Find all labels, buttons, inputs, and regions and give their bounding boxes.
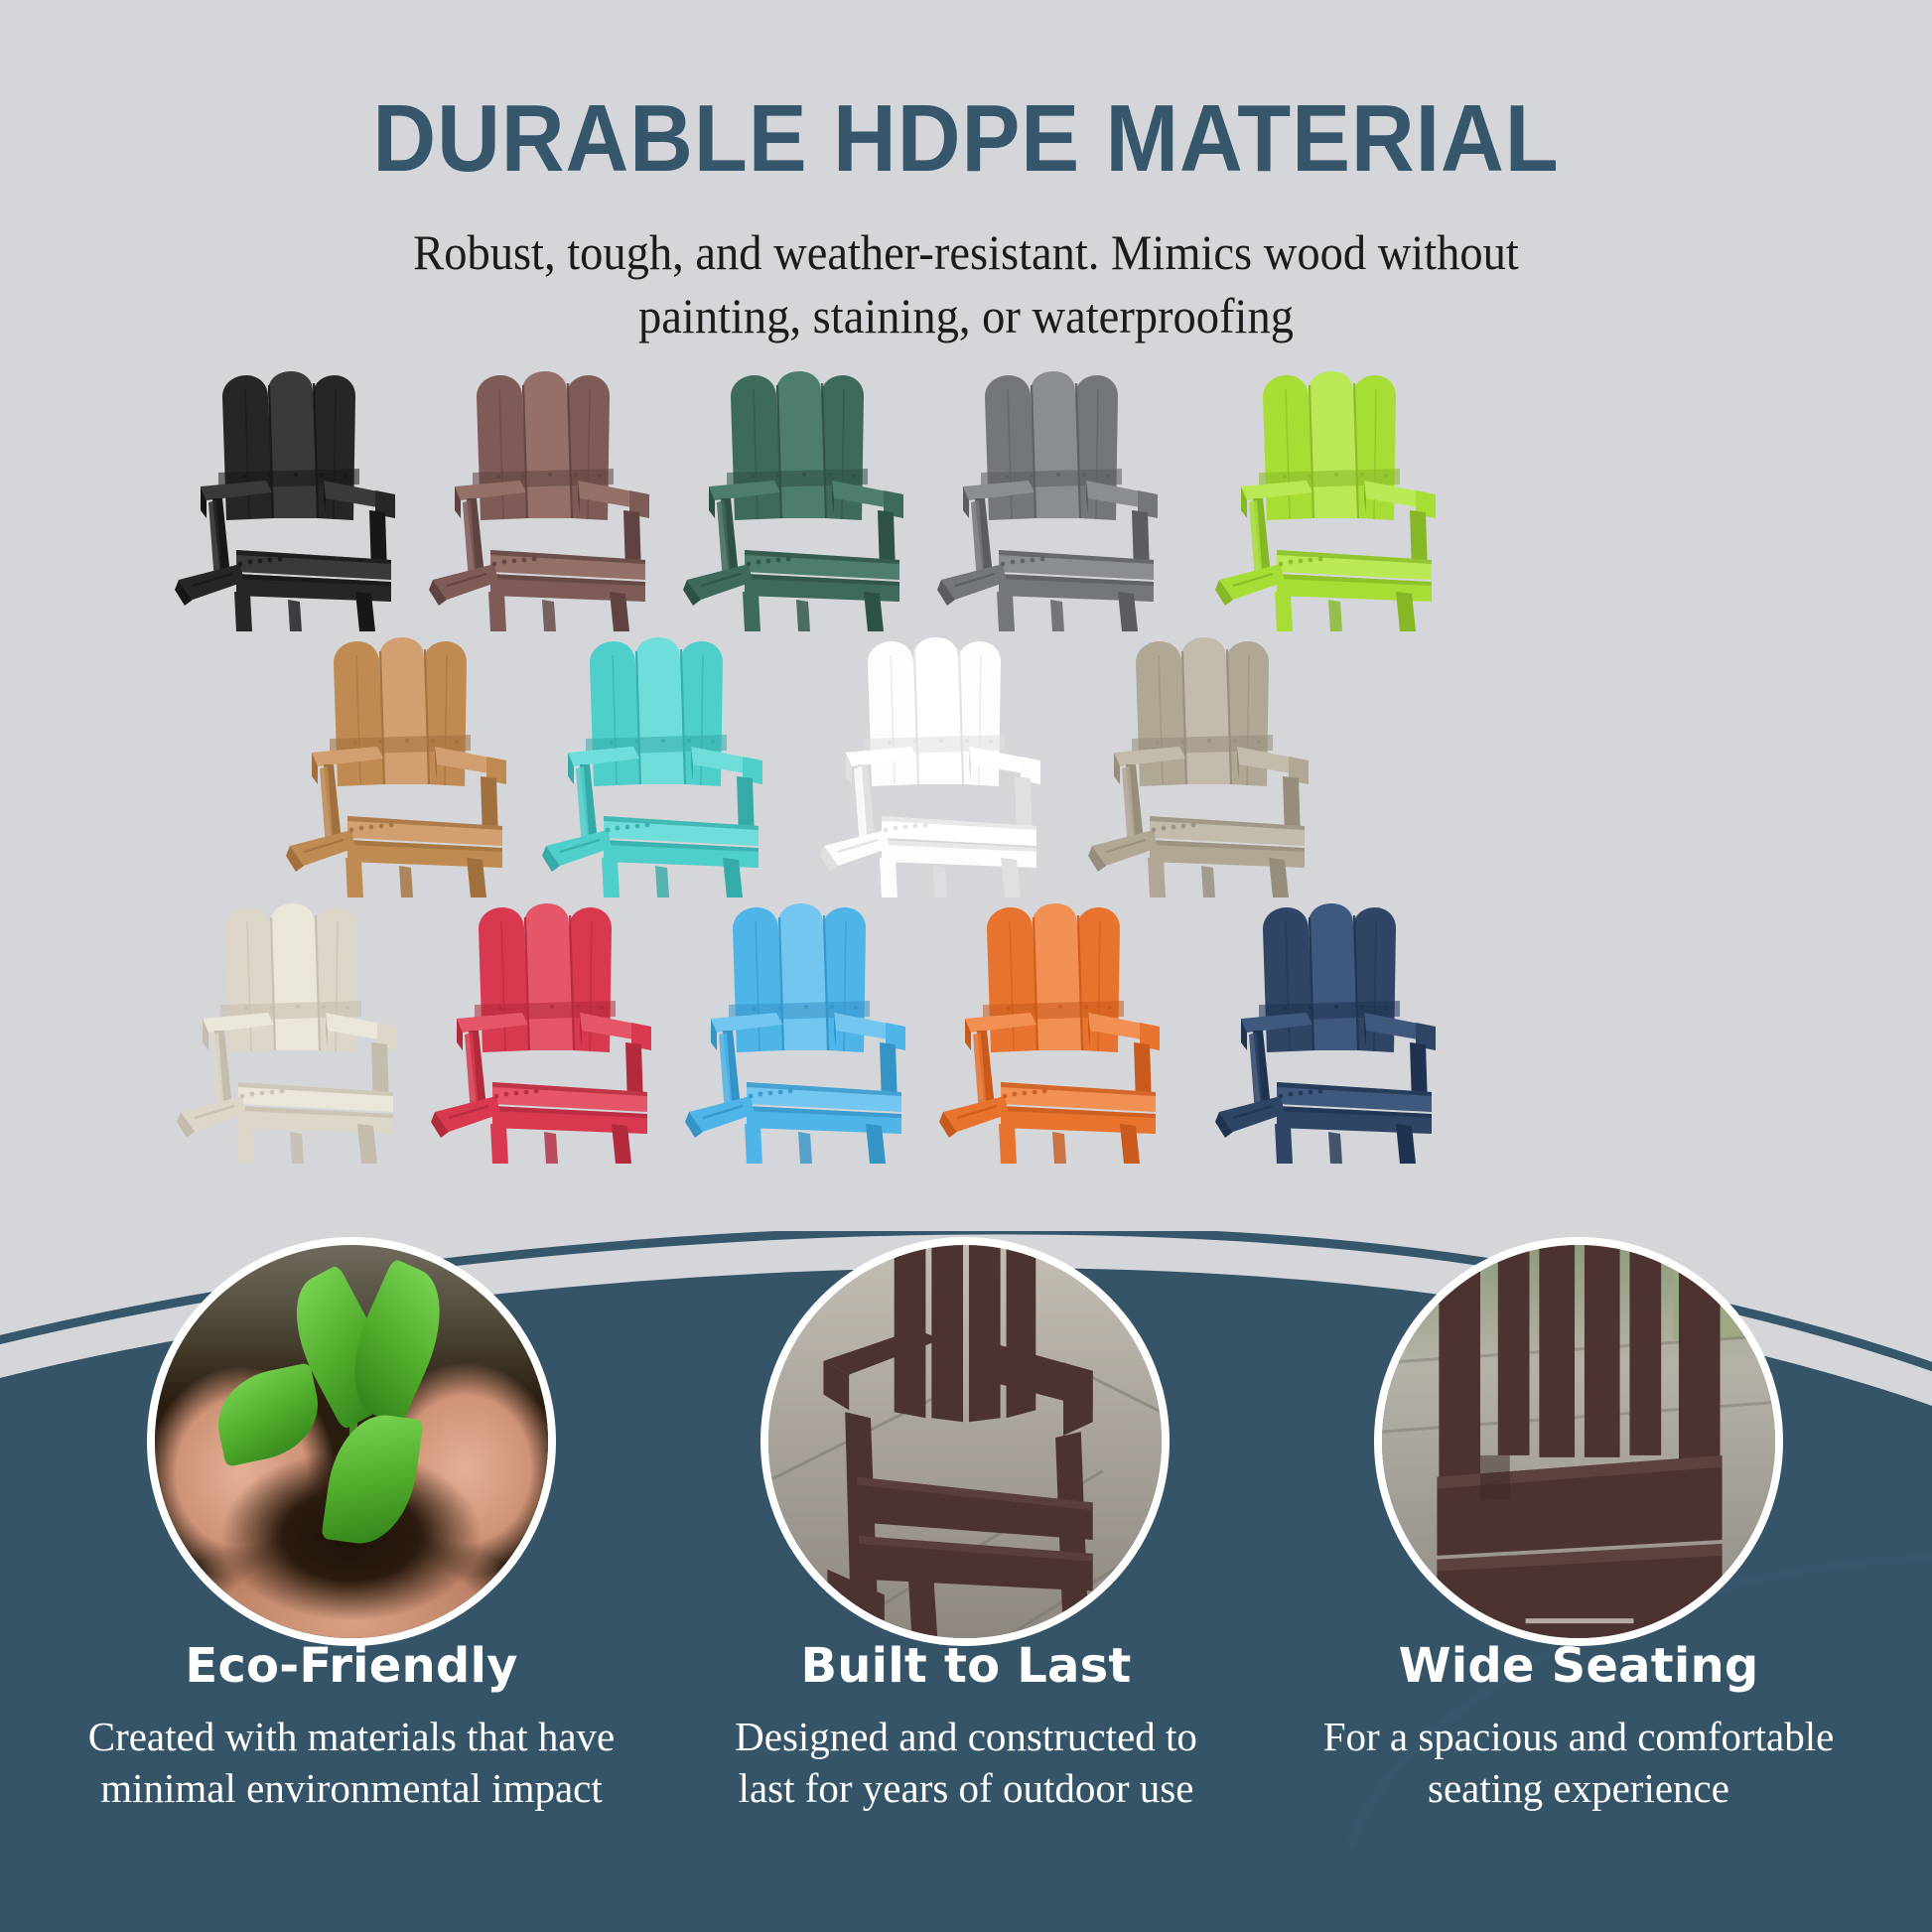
chair-swatch-navy-blue[interactable] (1189, 901, 1455, 1168)
chair-swatch-brown[interactable] (403, 369, 669, 635)
chair-illustration-black (149, 369, 415, 635)
chair-swatch-weathered-taupe[interactable] (1062, 635, 1328, 901)
feature-photo-eco-friendly (147, 1237, 556, 1646)
chair-illustration-lime-green (1189, 369, 1455, 635)
chair-color-grid (0, 369, 1932, 1168)
chair-swatch-white[interactable] (794, 635, 1060, 901)
feature-photos (0, 1237, 1932, 1654)
chair-closeup-svg (1382, 1245, 1775, 1638)
leaf-icon (208, 1362, 328, 1467)
feature-description: Created with materials that have minimal… (44, 1693, 659, 1815)
feature-desc-line-1: Designed and constructed to (658, 1711, 1274, 1762)
header: DURABLE HDPE MATERIAL Robust, tough, and… (0, 0, 1932, 347)
chair-row-2 (0, 635, 1932, 901)
chair-swatch-turquoise[interactable] (516, 635, 782, 901)
chair-seat-closeup-image (1382, 1245, 1775, 1638)
patio-chair-image (768, 1245, 1162, 1638)
chair-illustration-white (794, 635, 1060, 901)
infographic-root: DURABLE HDPE MATERIAL Robust, tough, and… (0, 0, 1932, 1932)
chair-illustration-light-blue (659, 901, 925, 1168)
chair-illustration-weathered-taupe (1062, 635, 1328, 901)
leaf-icon (321, 1409, 424, 1551)
chair-swatch-ivory[interactable] (151, 901, 417, 1168)
chair-row-1 (0, 369, 1932, 635)
chair-illustration-turquoise (516, 635, 782, 901)
feature-photo-wide-seating (1374, 1237, 1783, 1646)
feature-desc-line-2: seating experience (1271, 1762, 1886, 1814)
page-subtitle: Robust, tough, and weather-resistant. Mi… (68, 187, 1864, 347)
feature-caption-wide-seating: Wide Seating For a spacious and comforta… (1271, 1640, 1886, 1815)
chair-illustration-gray (911, 369, 1177, 635)
feature-description: For a spacious and comfortable seating e… (1271, 1693, 1886, 1815)
feature-heading: Wide Seating (1271, 1640, 1886, 1693)
feature-desc-line-2: minimal environmental impact (44, 1762, 659, 1814)
chair-swatch-teak[interactable] (260, 635, 526, 901)
patio-chair-svg (768, 1245, 1162, 1638)
subtitle-line-2: painting, staining, or waterproofing (68, 284, 1864, 347)
feature-captions: Eco-Friendly Created with materials that… (0, 1640, 1932, 1932)
feature-desc-line-1: For a spacious and comfortable (1271, 1711, 1886, 1762)
feature-caption-eco-friendly: Eco-Friendly Created with materials that… (44, 1640, 659, 1815)
chair-swatch-light-blue[interactable] (659, 901, 925, 1168)
feature-desc-line-1: Created with materials that have (44, 1711, 659, 1762)
chair-illustration-red (405, 901, 671, 1168)
feature-heading: Built to Last (658, 1640, 1274, 1693)
chair-illustration-teak (260, 635, 526, 901)
feature-description: Designed and constructed to last for yea… (658, 1693, 1274, 1815)
feature-caption-built-to-last: Built to Last Designed and constructed t… (658, 1640, 1274, 1815)
chair-illustration-ivory (151, 901, 417, 1168)
chair-illustration-navy-blue (1189, 901, 1455, 1168)
chair-swatch-lime-green[interactable] (1189, 369, 1455, 635)
chair-swatch-gray[interactable] (911, 369, 1177, 635)
feature-desc-line-2: last for years of outdoor use (658, 1762, 1274, 1814)
chair-swatch-red[interactable] (405, 901, 671, 1168)
chair-swatch-black[interactable] (149, 369, 415, 635)
chair-swatch-orange[interactable] (913, 901, 1179, 1168)
subtitle-line-1: Robust, tough, and weather-resistant. Mi… (68, 220, 1864, 284)
page-title: DURABLE HDPE MATERIAL (77, 0, 1855, 187)
hands-seedling-image (155, 1245, 548, 1638)
chair-illustration-dark-green (657, 369, 923, 635)
feature-heading: Eco-Friendly (44, 1640, 659, 1693)
feature-photo-built-to-last (760, 1237, 1170, 1646)
chair-illustration-brown (403, 369, 669, 635)
chair-row-3 (0, 901, 1932, 1168)
chair-swatch-dark-green[interactable] (657, 369, 923, 635)
chair-illustration-orange (913, 901, 1179, 1168)
